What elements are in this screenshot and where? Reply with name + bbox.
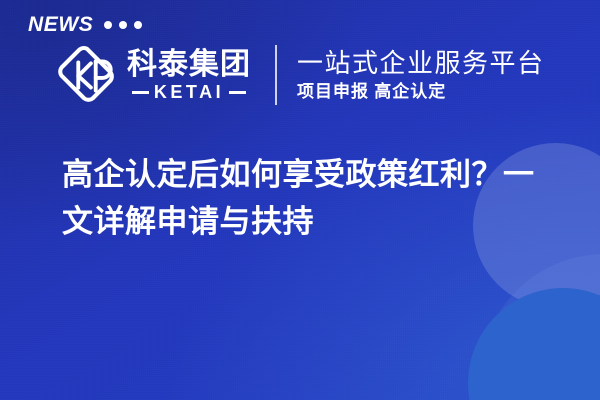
brand-name-cn: 科泰集团 bbox=[127, 49, 251, 81]
slogan-secondary: 项目申报 高企认定 bbox=[297, 82, 545, 101]
dash-right-icon bbox=[229, 91, 246, 94]
slogan-block: 一站式企业服务平台 项目申报 高企认定 bbox=[297, 49, 545, 101]
headline-title: 高企认定后如何享受政策红利？一文详解申请与扶持 bbox=[62, 152, 562, 245]
ketai-diamond-kp-monogram-icon bbox=[56, 44, 118, 106]
dot-icon bbox=[119, 21, 127, 29]
decorative-circle-bright bbox=[468, 288, 600, 400]
slogan-primary: 一站式企业服务平台 bbox=[297, 49, 545, 78]
brand-wordmark: 科泰集团 KETAI bbox=[127, 49, 251, 102]
brand-lockup: 科泰集团 KETAI 一站式企业服务平台 项目申报 高企认定 bbox=[56, 44, 545, 106]
three-dots-icon bbox=[104, 21, 142, 29]
dash-left-icon bbox=[132, 91, 149, 94]
dot-icon bbox=[134, 21, 142, 29]
news-label: NEWS bbox=[28, 14, 93, 35]
brand-name-en-row: KETAI bbox=[127, 83, 251, 101]
brand-logo[interactable]: 科泰集团 KETAI bbox=[56, 44, 251, 106]
brand-name-en: KETAI bbox=[154, 83, 224, 101]
dot-icon bbox=[104, 21, 112, 29]
news-eyebrow: NEWS bbox=[28, 14, 142, 35]
news-banner: NEWS 科泰集团 bbox=[0, 0, 600, 400]
vertical-divider-icon bbox=[275, 45, 277, 105]
